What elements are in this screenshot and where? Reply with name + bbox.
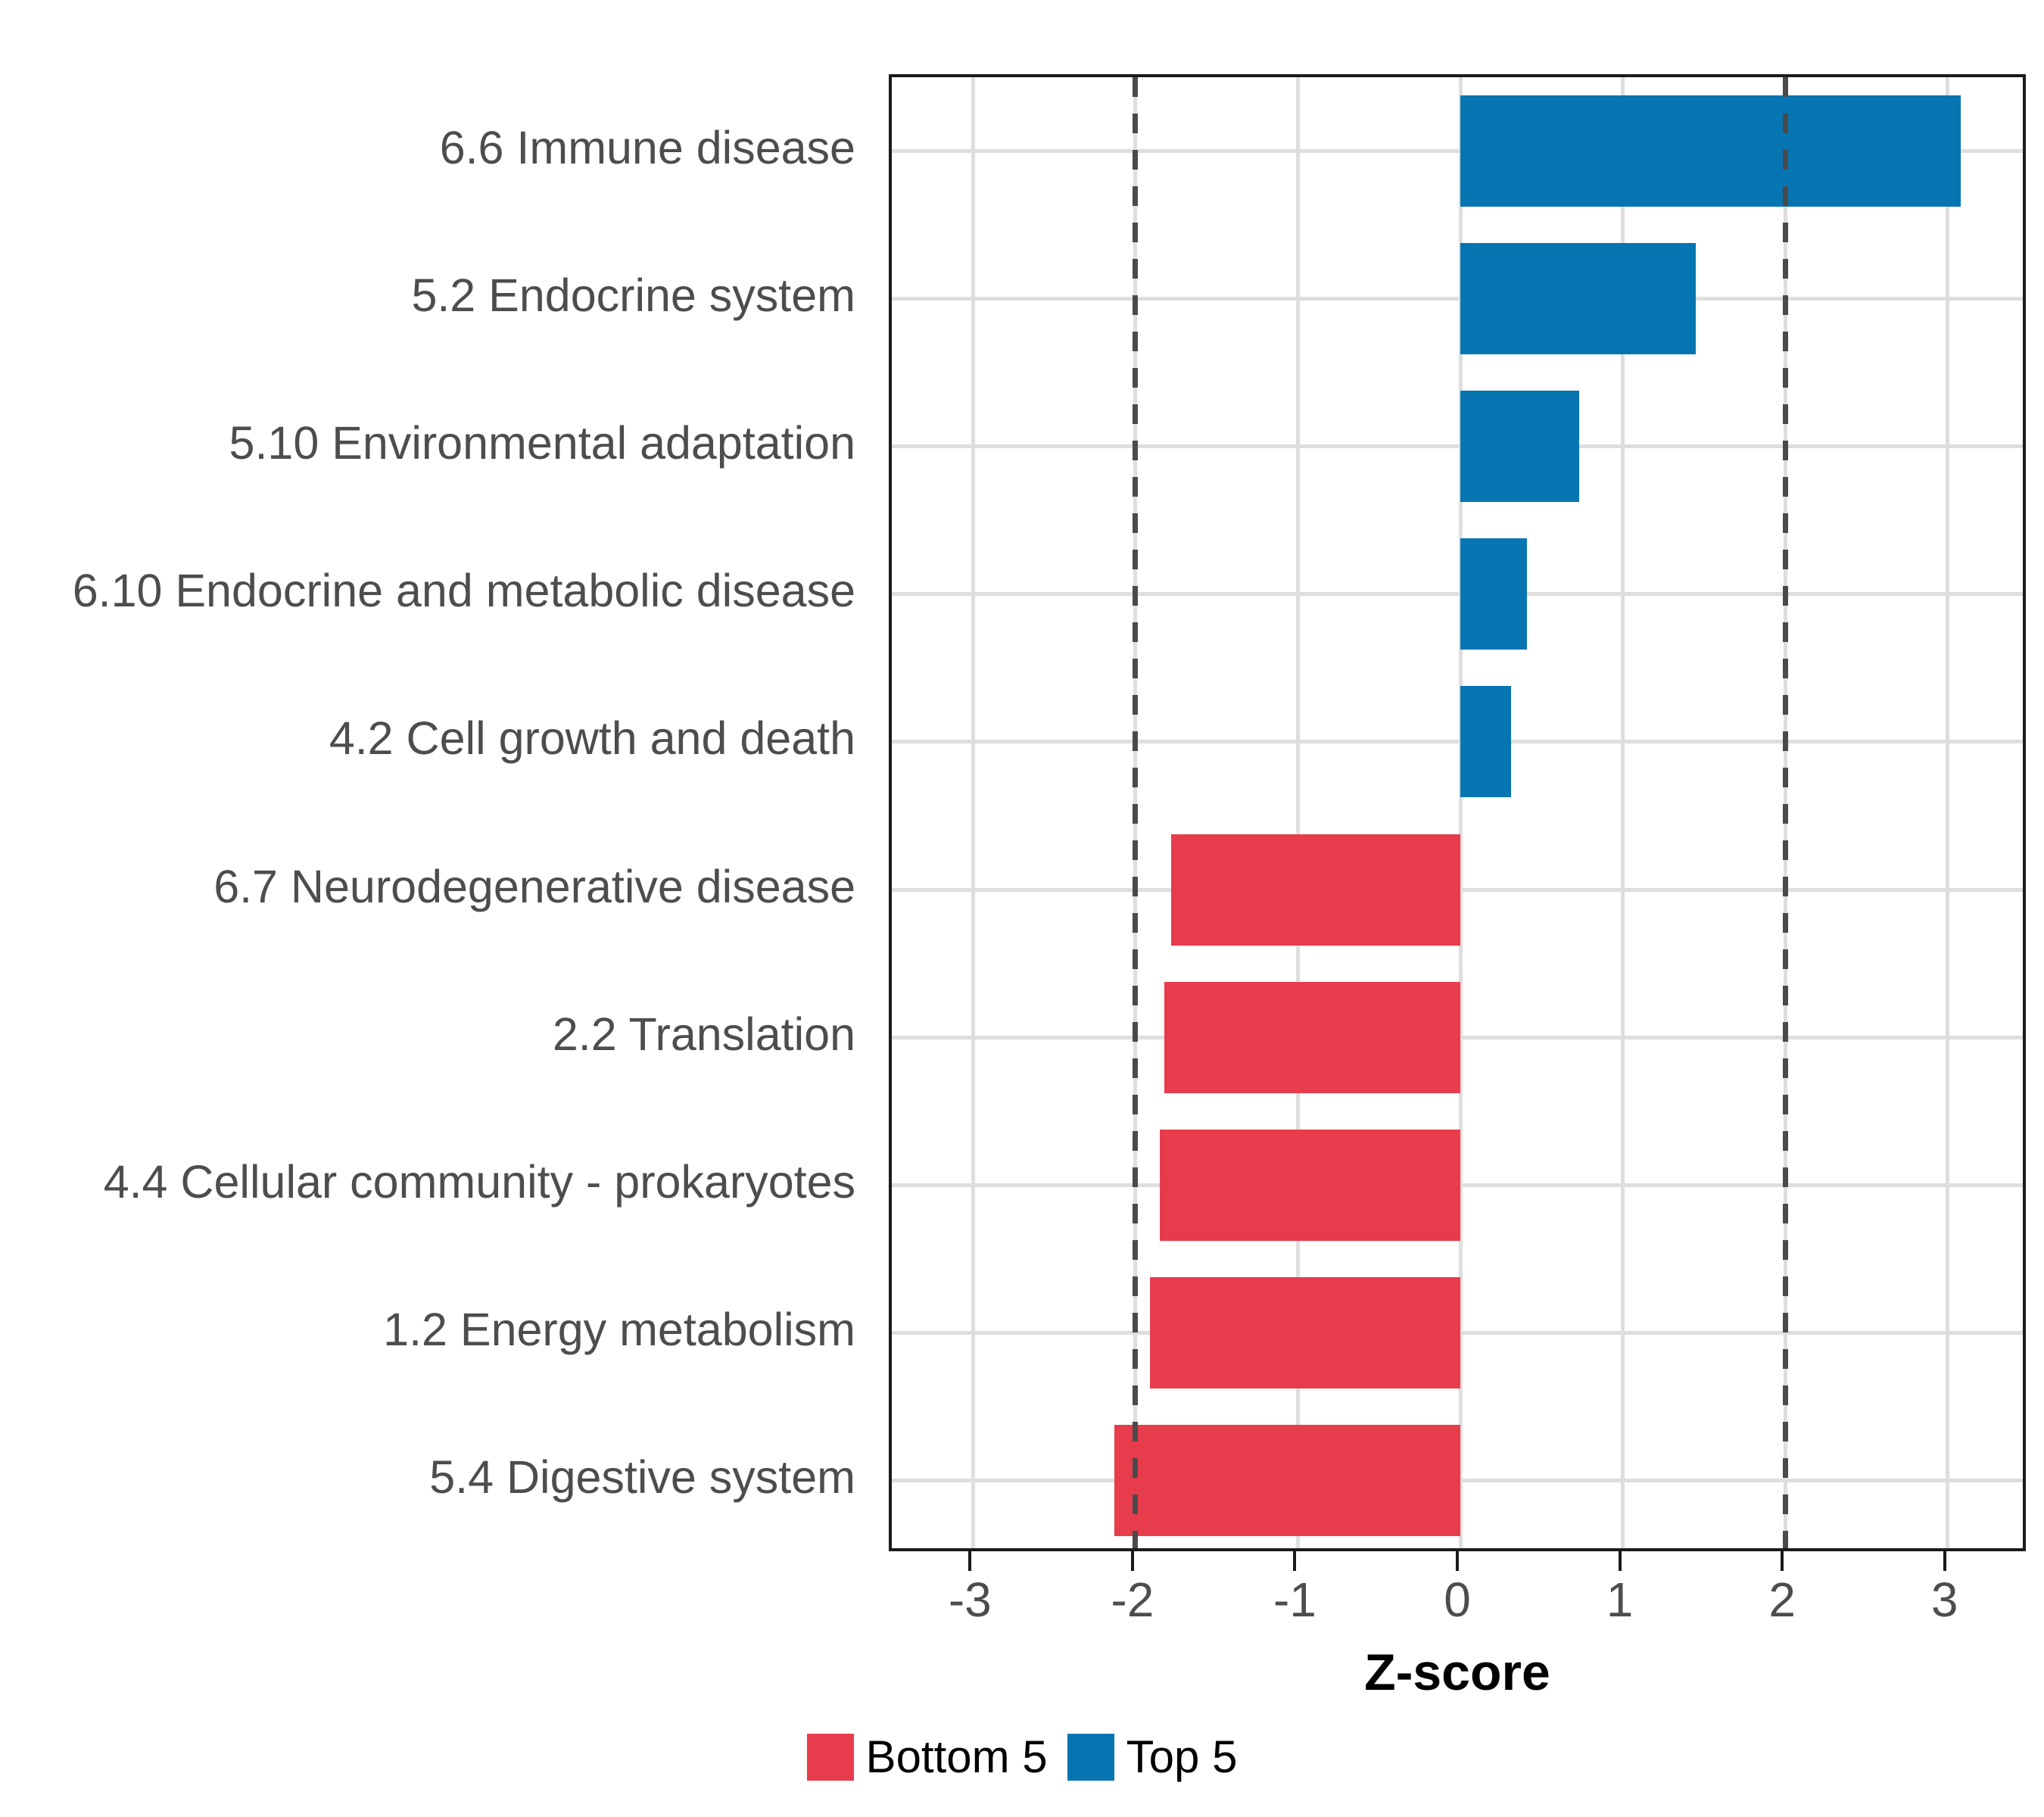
legend-swatch-top5 bbox=[1067, 1734, 1114, 1781]
x-axis-tick-label: 2 bbox=[1768, 1575, 1796, 1624]
bar[interactable] bbox=[1460, 686, 1511, 797]
y-axis-label-row: 5.2 Endocrine system bbox=[0, 222, 872, 369]
bar[interactable] bbox=[1171, 834, 1460, 946]
bar-row bbox=[892, 668, 2023, 815]
bar[interactable] bbox=[1150, 1277, 1460, 1388]
y-axis-tick-label: 5.4 Digestive system bbox=[429, 1454, 855, 1501]
y-axis-label-row: 6.7 Neurodegenerative disease bbox=[0, 812, 872, 960]
bar-row bbox=[892, 225, 2023, 372]
bar-row bbox=[892, 816, 2023, 964]
x-axis-tick bbox=[1943, 1551, 1946, 1571]
y-axis-tick-label: 1.2 Energy metabolism bbox=[383, 1307, 855, 1353]
legend-label-top5: Top 5 bbox=[1126, 1734, 1238, 1780]
bar[interactable] bbox=[1460, 538, 1527, 650]
x-axis-tick bbox=[1131, 1551, 1134, 1571]
y-axis-tick-label: 5.2 Endocrine system bbox=[411, 273, 855, 319]
y-axis-tick-label: 4.2 Cell growth and death bbox=[329, 715, 855, 762]
y-axis-tick-label: 6.7 Neurodegenerative disease bbox=[213, 864, 855, 910]
y-axis-label-row: 1.2 Energy metabolism bbox=[0, 1256, 872, 1404]
y-axis-label-row: 5.4 Digestive system bbox=[0, 1404, 872, 1551]
legend-swatch-bottom5 bbox=[807, 1734, 854, 1781]
y-axis-tick-label: 2.2 Translation bbox=[553, 1011, 855, 1058]
bar[interactable] bbox=[1164, 982, 1460, 1093]
chart-legend: Bottom 5 Top 5 bbox=[0, 1734, 2044, 1781]
x-axis-tick-label: 3 bbox=[1931, 1575, 1958, 1624]
legend-label-bottom5: Bottom 5 bbox=[866, 1734, 1048, 1780]
y-axis-label-row: 4.2 Cell growth and death bbox=[0, 665, 872, 812]
x-axis-tick-label: -2 bbox=[1111, 1575, 1154, 1624]
y-axis-category-labels: 6.6 Immune disease 5.2 Endocrine system … bbox=[0, 74, 872, 1551]
y-axis-tick-label: 5.10 Environmental adaptation bbox=[229, 420, 855, 466]
bar-row bbox=[892, 1407, 2023, 1551]
bar[interactable] bbox=[1460, 95, 1961, 207]
bar[interactable] bbox=[1114, 1425, 1460, 1536]
x-axis-tick bbox=[1619, 1551, 1622, 1571]
reference-line-dashed bbox=[1783, 77, 1788, 1548]
x-axis-tick-label: -1 bbox=[1273, 1575, 1316, 1624]
bar[interactable] bbox=[1460, 391, 1579, 502]
x-axis-tick bbox=[968, 1551, 971, 1571]
x-axis-tick bbox=[1293, 1551, 1296, 1571]
x-axis: -3-2-10123 bbox=[889, 1551, 2026, 1552]
bar-row bbox=[892, 964, 2023, 1111]
x-axis-tick-label: 0 bbox=[1444, 1575, 1471, 1624]
bar-row bbox=[892, 520, 2023, 668]
y-axis-tick-label: 4.4 Cellular community - prokaryotes bbox=[104, 1159, 855, 1205]
y-axis-label-row: 5.10 Environmental adaptation bbox=[0, 369, 872, 517]
bar-row bbox=[892, 1111, 2023, 1259]
zscore-bar-chart-figure: 6.6 Immune disease 5.2 Endocrine system … bbox=[0, 0, 2044, 1817]
y-axis-label-row: 6.10 Endocrine and metabolic disease bbox=[0, 517, 872, 665]
x-axis-tick-label: 1 bbox=[1606, 1575, 1634, 1624]
y-axis-label-row: 2.2 Translation bbox=[0, 961, 872, 1108]
bar[interactable] bbox=[1460, 243, 1696, 354]
plot-panel bbox=[889, 74, 2026, 1551]
y-axis-tick-label: 6.6 Immune disease bbox=[440, 125, 855, 171]
x-axis-title: Z-score bbox=[889, 1647, 2026, 1698]
bar-row bbox=[892, 77, 2023, 225]
reference-line-dashed bbox=[1133, 77, 1138, 1548]
y-axis-tick-label: 6.10 Endocrine and metabolic disease bbox=[73, 568, 855, 614]
bar-row bbox=[892, 372, 2023, 520]
bar-series-container bbox=[892, 77, 2023, 1548]
x-axis-tick-label: -3 bbox=[949, 1575, 992, 1624]
bar-row bbox=[892, 1259, 2023, 1407]
x-axis-tick bbox=[1456, 1551, 1459, 1571]
legend-item-top5[interactable]: Top 5 bbox=[1067, 1734, 1238, 1781]
y-axis-label-row: 4.4 Cellular community - prokaryotes bbox=[0, 1108, 872, 1256]
y-axis-label-row: 6.6 Immune disease bbox=[0, 74, 872, 222]
x-axis-tick bbox=[1781, 1551, 1784, 1571]
plot-panel-inner bbox=[892, 77, 2023, 1548]
legend-item-bottom5[interactable]: Bottom 5 bbox=[807, 1734, 1048, 1781]
bar[interactable] bbox=[1160, 1130, 1460, 1241]
